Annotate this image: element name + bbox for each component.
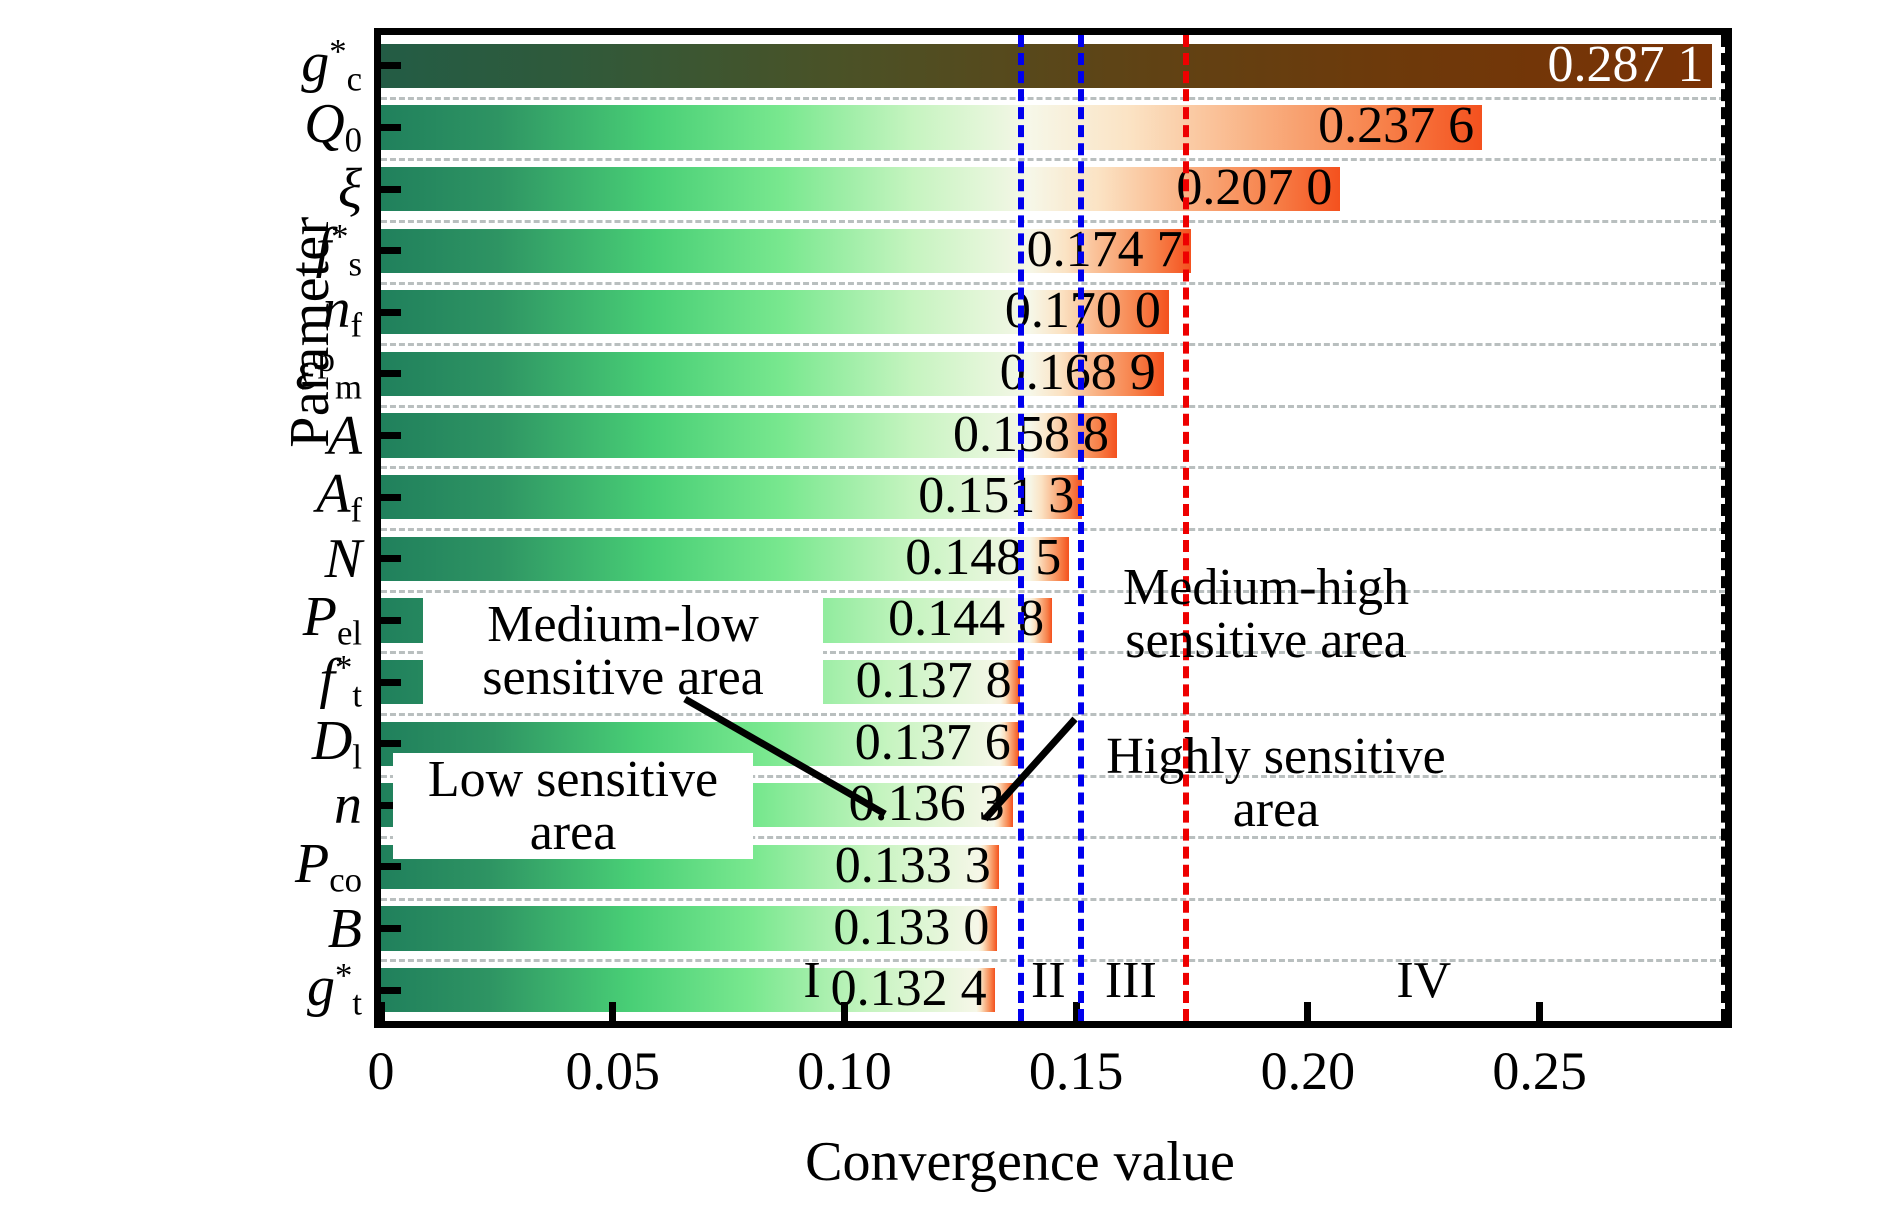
bar-value-label: 0.137 6 (855, 717, 1011, 769)
y-axis-category-label: εpm (296, 343, 362, 405)
y-axis-tick (379, 247, 401, 254)
gridline (381, 158, 1725, 161)
x-axis-tick-label: 0 (368, 1040, 395, 1102)
gridline (381, 898, 1725, 901)
x-axis-title: Convergence value (305, 1130, 1735, 1194)
y-axis-tick (379, 617, 401, 624)
bar-value-label: 0.133 0 (833, 902, 989, 954)
y-axis-tick (379, 370, 401, 377)
x-axis-tick-label: 0.20 (1261, 1040, 1356, 1102)
x-axis-tick-label: 0.15 (1029, 1040, 1124, 1102)
plot-area: 0.287 10.237 60.207 00.174 70.170 00.168… (374, 28, 1732, 1028)
bar-value-label: 0.151 3 (918, 470, 1074, 522)
x-axis-tick (1304, 1002, 1311, 1022)
annotation-medium-low: Medium-low sensitive area (423, 598, 823, 704)
x-axis-tick (1536, 1002, 1543, 1022)
y-axis-category-label: Q0 (304, 96, 362, 158)
y-axis-category-label: Dl (312, 712, 362, 774)
y-axis-tick (379, 186, 401, 193)
y-axis-category-label: f*t (319, 651, 362, 713)
plot-right-edge-dashed (1721, 35, 1727, 1021)
x-axis-tick (841, 1002, 848, 1022)
annotation-high: Highly sensitive area (1061, 730, 1491, 836)
threshold-line-2 (1078, 35, 1084, 1021)
y-axis-tick (379, 740, 401, 747)
y-axis-category-label: g*t (307, 959, 362, 1021)
y-axis-category-label: N (325, 531, 362, 587)
annotation-medium-high: Medium-high sensitive area (1051, 561, 1481, 667)
plot-inner: 0.287 10.237 60.207 00.174 70.170 00.168… (381, 35, 1725, 1021)
bar (381, 44, 1712, 88)
zone-numeral-4: IV (1396, 951, 1451, 1010)
bar-value-label: 0.237 6 (1318, 100, 1474, 152)
bar-value-label: 0.137 8 (856, 655, 1012, 707)
bar-value-label: 0.207 0 (1176, 162, 1332, 214)
y-axis-tick (379, 679, 401, 686)
y-axis-category-label: Af (316, 466, 362, 528)
y-axis-category-label: B (328, 901, 362, 957)
y-axis-tick (379, 863, 401, 870)
bar-value-label: 0.136 3 (849, 778, 1005, 830)
y-axis-tick (379, 925, 401, 932)
bar-value-label: 0.148 5 (905, 532, 1061, 584)
zone-numeral-3: III (1105, 951, 1157, 1010)
zone-numeral-1: I (803, 951, 820, 1010)
y-axis-tick (379, 987, 401, 994)
y-axis-category-label: f*s (316, 219, 362, 281)
x-axis-tick (609, 1002, 616, 1022)
y-axis-category-label: ξ (338, 161, 362, 217)
bar-value-label: 0.174 7 (1027, 224, 1183, 276)
bar-value-label: 0.132 4 (831, 963, 987, 1015)
x-axis-tick-label: 0.05 (565, 1040, 660, 1102)
bar-value-label: 0.287 1 (1548, 39, 1704, 91)
x-axis-tick-label: 0.25 (1492, 1040, 1587, 1102)
bar-value-label: 0.133 3 (835, 840, 991, 892)
y-axis-tick (379, 309, 401, 316)
x-axis-tick (378, 1002, 385, 1022)
sensitivity-bar-chart: Parameter g*cQ0ξf*snfεpmAAfNPelf*tDlnPco… (0, 0, 1890, 1210)
y-axis-tick (379, 494, 401, 501)
gridline (381, 97, 1725, 100)
gridline (381, 713, 1725, 716)
threshold-line-1 (1018, 35, 1024, 1021)
y-axis-category-label: Pel (303, 589, 362, 651)
y-axis-category-label: g*c (301, 35, 362, 97)
y-axis-tick (379, 555, 401, 562)
zone-numeral-2: II (1031, 951, 1066, 1010)
y-axis-tick (379, 62, 401, 69)
bar (381, 105, 1482, 149)
bar-value-label: 0.158 8 (953, 409, 1109, 461)
x-axis-tick-label: 0.10 (797, 1040, 892, 1102)
y-axis-category-label: A (328, 408, 362, 464)
y-axis-tick (379, 432, 401, 439)
y-axis-tick (379, 124, 401, 131)
y-axis-category-label: Pco (295, 836, 362, 898)
y-axis-category-label: nf (322, 281, 362, 343)
y-axis-category-label: n (334, 777, 362, 833)
threshold-line-3 (1183, 35, 1189, 1021)
annotation-low: Low sensitive area (393, 753, 753, 859)
y-axis-category-labels: g*cQ0ξf*snfεpmAAfNPelf*tDlnPcoBg*t (140, 28, 362, 1028)
